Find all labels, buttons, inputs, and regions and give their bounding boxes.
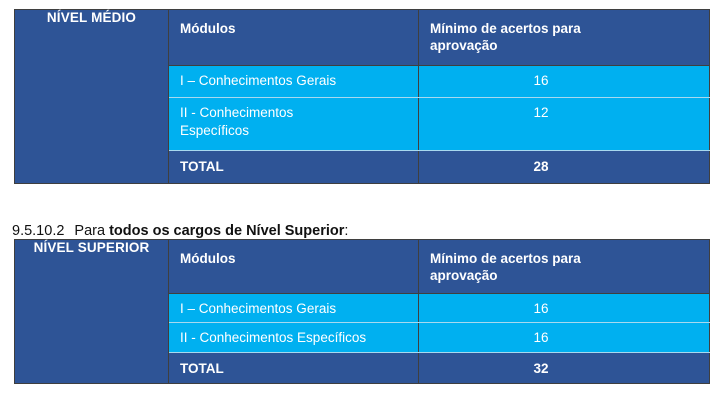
level-label-cell: NÍVEL MÉDIO (15, 10, 169, 184)
total-value-cell: 32 (419, 353, 710, 384)
module-minimum-cell: 16 (419, 293, 710, 323)
header-line-2: aprovação (430, 268, 498, 283)
exam-table-nivel-medio: NÍVEL MÉDIO Módulos Mínimo de acertos pa… (14, 9, 710, 184)
table-row: NÍVEL MÉDIO Módulos Mínimo de acertos pa… (15, 10, 710, 66)
total-value-cell: 28 (419, 151, 710, 184)
clause-tail-text: : (344, 223, 348, 239)
column-header-minimum-approval: Mínimo de acertos para aprovação (419, 240, 710, 294)
module-name-line-1: II - Conhecimentos (180, 105, 293, 120)
column-header-modules: Módulos (169, 10, 419, 66)
clause-emphasis-text: todos os cargos de Nível Superior (109, 223, 344, 239)
header-line-2: aprovação (430, 38, 498, 53)
module-minimum-cell: 16 (419, 323, 710, 353)
exam-table-nivel-superior: NÍVEL SUPERIOR Módulos Mínimo de acertos… (14, 239, 710, 384)
column-header-modules: Módulos (169, 240, 419, 294)
clause-lead-text: Para (74, 223, 105, 239)
total-label-cell: TOTAL (169, 151, 419, 184)
clause-number: 9.5.10.2 (12, 223, 64, 239)
header-line-1: Mínimo de acertos para (430, 21, 581, 36)
module-name-cell: II - Conhecimentos Específicos (169, 97, 419, 151)
clause-paragraph: 9.5.10.2Para todos os cargos de Nível Su… (12, 221, 348, 241)
module-name-cell: I – Conhecimentos Gerais (169, 66, 419, 97)
level-label-cell: NÍVEL SUPERIOR (15, 240, 169, 384)
module-minimum-cell: 16 (419, 66, 710, 97)
module-name-cell: II - Conhecimentos Específicos (169, 323, 419, 353)
module-name-cell: I – Conhecimentos Gerais (169, 293, 419, 323)
module-name-line-2: Específicos (180, 123, 249, 138)
module-minimum-cell: 12 (419, 97, 710, 151)
total-label-cell: TOTAL (169, 353, 419, 384)
table-row: NÍVEL SUPERIOR Módulos Mínimo de acertos… (15, 240, 710, 294)
header-line-1: Mínimo de acertos para (430, 251, 581, 266)
column-header-minimum-approval: Mínimo de acertos para aprovação (419, 10, 710, 66)
